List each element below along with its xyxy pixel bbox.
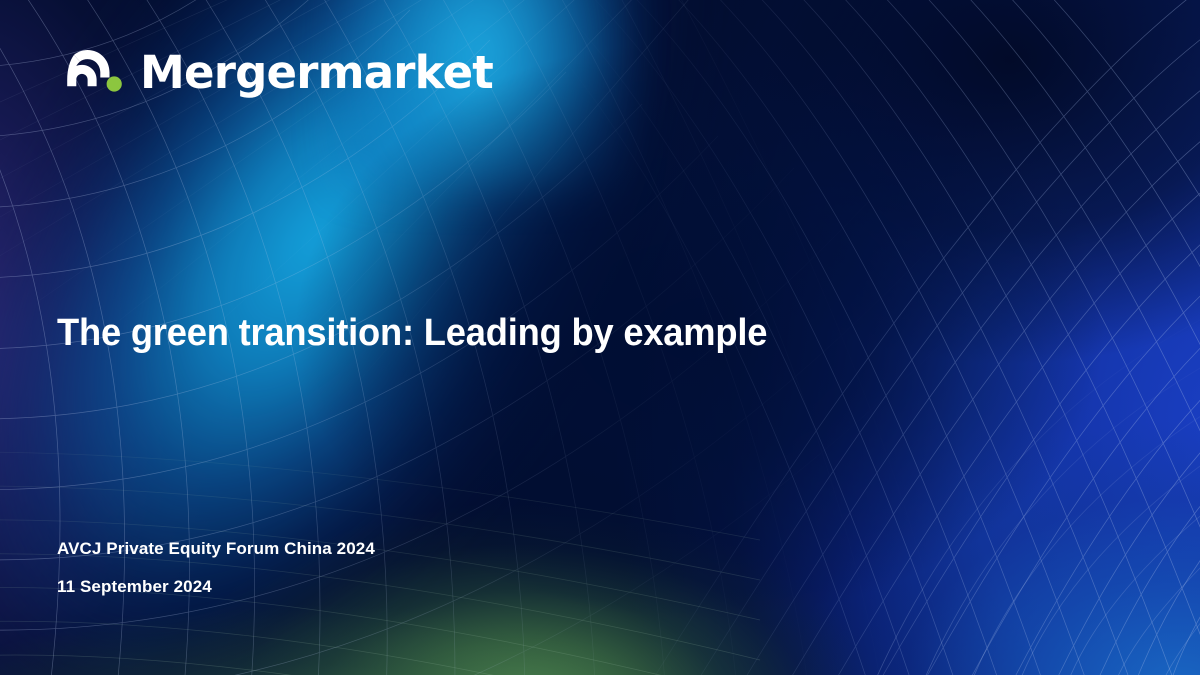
footer-date: 11 September 2024 [57, 578, 375, 595]
mergermarket-arch-icon [60, 46, 126, 98]
mergermarket-green-dot-icon [107, 76, 122, 91]
mergermarket-logo[interactable]: Mergermarket [60, 46, 493, 98]
title-slide: Mergermarket The green transition: Leadi… [0, 0, 1200, 675]
slide-content: Mergermarket The green transition: Leadi… [0, 0, 1200, 675]
footer-event-name: AVCJ Private Equity Forum China 2024 [57, 540, 375, 557]
slide-title: The green transition: Leading by example [57, 311, 1012, 356]
mergermarket-wordmark: Mergermarket [140, 50, 493, 95]
slide-footer: AVCJ Private Equity Forum China 2024 11 … [57, 540, 375, 595]
